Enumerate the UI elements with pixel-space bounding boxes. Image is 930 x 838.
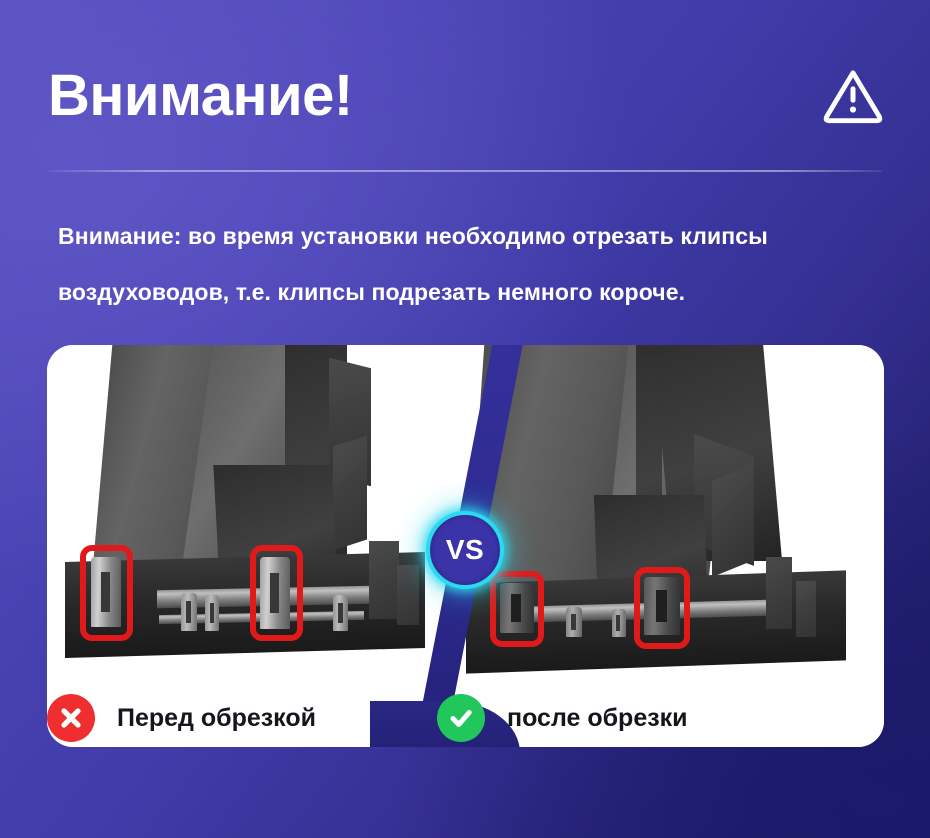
before-photo-pane [47,345,466,747]
after-photo-image [466,345,885,747]
vs-label: VS [446,536,484,564]
check-icon [437,694,485,742]
after-photo-pane [466,345,885,747]
before-caption: Перед обрезкой [47,688,316,748]
caption-row: Перед обрезкой после обрезки [47,688,884,748]
warning-banner: Внимание! Внимание: во время установки н… [0,0,930,838]
warning-body-text: Внимание: во время установки необходимо … [58,208,888,320]
highlight-box-clip-left-1 [80,545,133,641]
vs-badge: VS [426,511,504,589]
after-caption: после обрезки [437,688,688,748]
after-caption-label: после обрезки [507,704,688,733]
highlight-box-clip-right-1 [490,571,544,647]
header-divider [48,170,882,172]
page-title: Внимание! [48,67,353,125]
highlight-box-clip-left-2 [250,545,303,641]
before-caption-label: Перед обрезкой [117,704,316,733]
warning-triangle-icon [822,67,884,125]
banner-header: Внимание! [48,44,884,148]
highlight-box-clip-right-2 [634,567,690,649]
cross-icon [47,694,95,742]
